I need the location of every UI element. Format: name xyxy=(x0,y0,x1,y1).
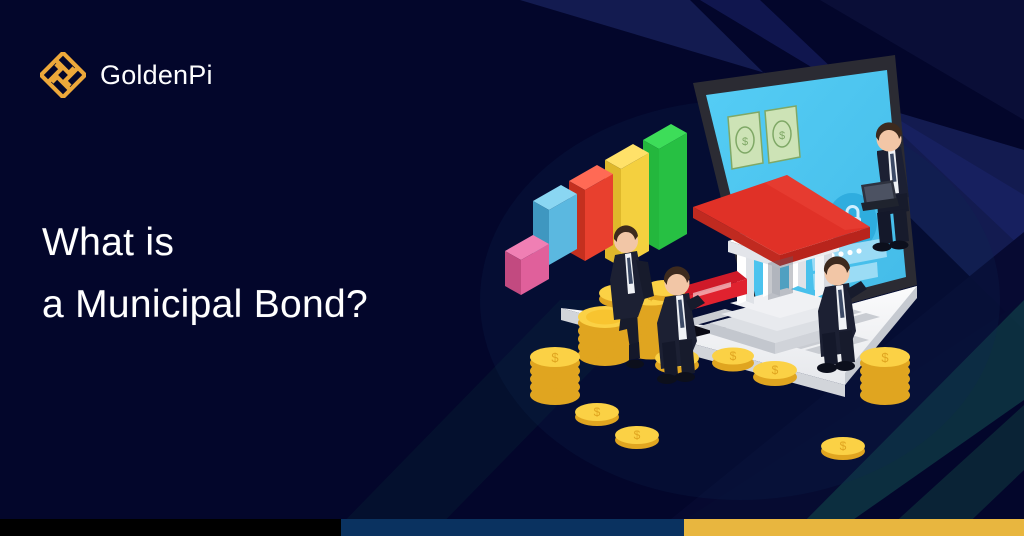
loose-coin: $ xyxy=(821,437,865,460)
svg-text:$: $ xyxy=(881,350,889,365)
headline-line-1: What is xyxy=(42,221,174,264)
illustration-svg: $ $ xyxy=(525,55,965,455)
isometric-municipal-bond-illustration: $ $ xyxy=(525,55,965,455)
banner-stage: GoldenPi What is a Municipal Bond? xyxy=(0,0,1024,536)
svg-text:$: $ xyxy=(594,405,601,419)
loose-coin: $ xyxy=(575,403,619,426)
footer-segment-gold xyxy=(684,519,1024,536)
svg-text:$: $ xyxy=(840,439,847,453)
coin-stack-right: $ xyxy=(860,347,910,405)
goldenpi-interlock-diamond-icon xyxy=(40,52,86,98)
svg-text:$: $ xyxy=(742,136,748,148)
dollar-bill-icon: $ xyxy=(728,112,763,169)
svg-text:$: $ xyxy=(551,350,559,365)
dollar-bill-icon: $ xyxy=(765,106,800,163)
coin-stack-deck-b: $ xyxy=(753,361,797,386)
brand-name: GoldenPi xyxy=(100,62,213,89)
svg-text:$: $ xyxy=(730,349,737,363)
svg-text:$: $ xyxy=(772,363,779,377)
coin-stack-far-left: $ xyxy=(530,347,580,405)
headline-line-2: a Municipal Bond? xyxy=(42,274,368,336)
footer-segment-black xyxy=(0,519,341,536)
svg-text:$: $ xyxy=(634,428,641,442)
coin-stack-deck-c: $ xyxy=(712,348,754,372)
svg-text:$: $ xyxy=(779,130,785,142)
page-title: What is a Municipal Bond? xyxy=(42,212,368,336)
footer-segment-blue xyxy=(341,519,684,536)
bar-chart-3d xyxy=(505,124,687,295)
footer-color-bar xyxy=(0,519,1024,536)
bank-doorway xyxy=(768,256,793,300)
loose-coin: $ xyxy=(615,426,659,449)
brand-logo[interactable]: GoldenPi xyxy=(40,52,213,98)
bar-5-green xyxy=(643,124,687,250)
